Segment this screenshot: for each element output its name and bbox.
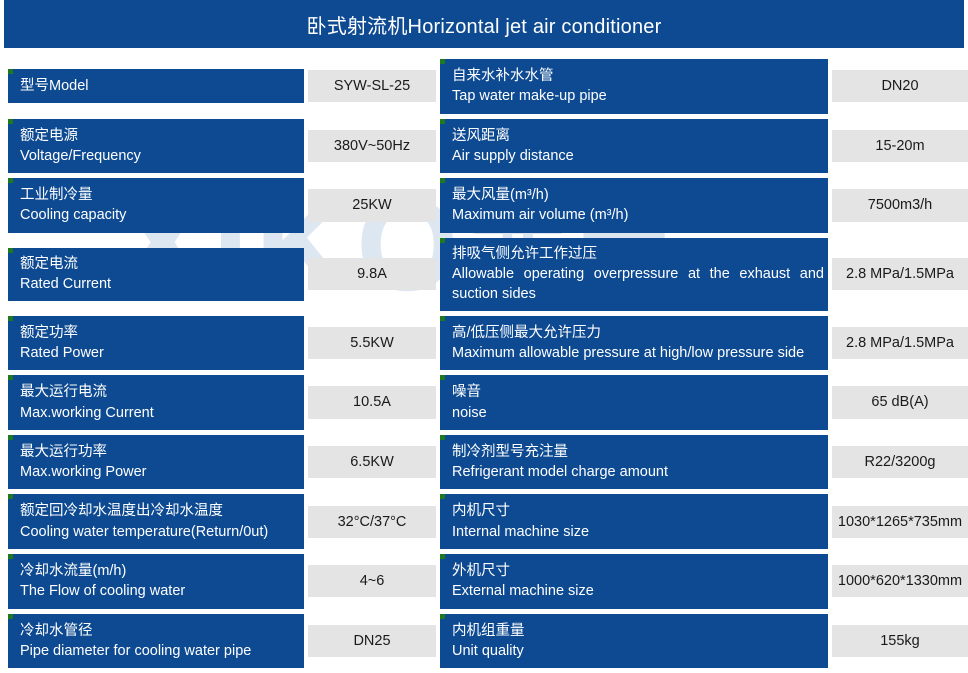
spec-label-right: 制冷剂型号充注量Refrigerant model charge amount: [440, 435, 828, 490]
spec-label-right-cn: 内机组重量: [452, 621, 824, 641]
spec-label-left-en: Rated Current: [20, 274, 300, 294]
spec-label-cell-left: 额定电流Rated Current: [8, 238, 304, 311]
spec-label-cell-right: 外机尺寸External machine size: [440, 554, 828, 609]
spec-label-cell-right: 自来水补水水管Tap water make-up pipe: [440, 59, 828, 114]
spec-value-right: R22/3200g: [832, 446, 968, 478]
spec-label-right-en: Maximum allowable pressure at high/low p…: [452, 343, 824, 363]
spec-label-cell-left: 最大运行功率Max.working Power: [8, 435, 304, 490]
spec-label-cell-right: 排吸气侧允许工作过压 Allowable operating overpress…: [440, 238, 828, 311]
spec-label-left-cn: 工业制冷量: [20, 185, 300, 205]
spec-label-left: 冷却水流量(m/h)The Flow of cooling water: [8, 554, 304, 609]
spec-value-cell-left: 32°C/37°C: [308, 494, 436, 549]
spec-label-right: 高/低压侧最大允许压力Maximum allowable pressure at…: [440, 316, 828, 371]
spec-value-cell-right: 155kg: [832, 614, 968, 669]
table-row: 型号ModelSYW-SL-25自来水补水水管Tap water make-up…: [8, 59, 968, 114]
spec-label-left-cn: 最大运行电流: [20, 382, 300, 402]
spec-value-left: 5.5KW: [308, 327, 436, 359]
spec-value-cell-left: 6.5KW: [308, 435, 436, 490]
spec-value-right: 1030*1265*735mm: [832, 506, 968, 538]
spec-value-cell-left: SYW-SL-25: [308, 59, 436, 114]
spec-value-left: 380V~50Hz: [308, 130, 436, 162]
spec-value-left: 32°C/37°C: [308, 506, 436, 538]
spec-label-left: 冷却水管径Pipe diameter for cooling water pip…: [8, 614, 304, 669]
spec-label-left: 最大运行电流Max.working Current: [8, 375, 304, 430]
spec-value-cell-left: 4~6: [308, 554, 436, 609]
spec-value-right: 15-20m: [832, 130, 968, 162]
spec-label-cell-left: 额定电源Voltage/Frequency: [8, 119, 304, 174]
spec-label-right: 噪音noise: [440, 375, 828, 430]
spec-label-left: 工业制冷量Cooling capacity: [8, 178, 304, 233]
spec-value-left: 9.8A: [308, 258, 436, 290]
spec-label-right-en: Tap water make-up pipe: [452, 86, 824, 106]
spec-value-left: 10.5A: [308, 386, 436, 418]
spec-value-cell-right: 15-20m: [832, 119, 968, 174]
spec-label-left-cn: 冷却水流量(m/h): [20, 561, 300, 581]
spec-label-right-en: Internal machine size: [452, 522, 824, 542]
spec-value-left: 25KW: [308, 189, 436, 221]
spec-label-cell-left: 冷却水流量(m/h)The Flow of cooling water: [8, 554, 304, 609]
spec-label-cell-left: 工业制冷量Cooling capacity: [8, 178, 304, 233]
spec-label-left-cn: 型号Model: [20, 76, 300, 96]
spec-label-left-en: Voltage/Frequency: [20, 146, 300, 166]
spec-label-right-en: External machine size: [452, 581, 824, 601]
spec-value-cell-right: R22/3200g: [832, 435, 968, 490]
spec-label-left-en: Cooling water temperature(Return/0ut): [20, 522, 300, 542]
spec-value-cell-right: 1030*1265*735mm: [832, 494, 968, 549]
spec-value-right: DN20: [832, 70, 968, 102]
table-row: 额定回冷却水温度出冷却水温度Cooling water temperature(…: [8, 494, 968, 549]
spec-label-cell-left: 型号Model: [8, 59, 304, 114]
spec-value-cell-right: 2.8 MPa/1.5MPa: [832, 238, 968, 311]
spec-label-right-en: Refrigerant model charge amount: [452, 462, 824, 482]
table-row: 冷却水流量(m/h)The Flow of cooling water4~6外机…: [8, 554, 968, 609]
spec-value-cell-right: 65 dB(A): [832, 375, 968, 430]
spec-label-cell-right: 噪音noise: [440, 375, 828, 430]
spec-value-right: 1000*620*1330mm: [832, 565, 968, 597]
spec-value-cell-right: 7500m3/h: [832, 178, 968, 233]
spec-value-cell-right: 1000*620*1330mm: [832, 554, 968, 609]
spec-label-left-cn: 额定功率: [20, 323, 300, 343]
spec-label-left-en: Pipe diameter for cooling water pipe: [20, 641, 300, 661]
table-row: 额定电源Voltage/Frequency380V~50Hz送风距离Air su…: [8, 119, 968, 174]
spec-value-left: 6.5KW: [308, 446, 436, 478]
spec-label-right: 内机尺寸Internal machine size: [440, 494, 828, 549]
spec-label-left-cn: 额定电流: [20, 254, 300, 274]
spec-label-cell-right: 内机尺寸Internal machine size: [440, 494, 828, 549]
spec-label-cell-left: 额定功率Rated Power: [8, 316, 304, 371]
spec-value-cell-left: 10.5A: [308, 375, 436, 430]
table-row: 额定电流Rated Current9.8A排吸气侧允许工作过压 Allowabl…: [8, 238, 968, 311]
spec-label-right: 送风距离Air supply distance: [440, 119, 828, 174]
table-row: 工业制冷量Cooling capacity25KW最大风量(m³/h)Maxim…: [8, 178, 968, 233]
spec-label-right: 排吸气侧允许工作过压 Allowable operating overpress…: [440, 238, 828, 311]
spec-value-right: 2.8 MPa/1.5MPa: [832, 327, 968, 359]
spec-label-left: 额定回冷却水温度出冷却水温度Cooling water temperature(…: [8, 494, 304, 549]
spec-label-cell-left: 最大运行电流Max.working Current: [8, 375, 304, 430]
spec-label-right-cn: 送风距离: [452, 126, 824, 146]
spec-label-right-cn: 排吸气侧允许工作过压: [452, 244, 824, 264]
spec-value-cell-left: 380V~50Hz: [308, 119, 436, 174]
spec-label-left-en: Max.working Current: [20, 403, 300, 423]
spec-label-left: 额定电流Rated Current: [8, 248, 304, 301]
table-row: 额定功率Rated Power5.5KW高/低压侧最大允许压力Maximum a…: [8, 316, 968, 371]
spec-value-cell-left: 9.8A: [308, 238, 436, 311]
table-row: 最大运行电流Max.working Current10.5A噪音noise65 …: [8, 375, 968, 430]
spec-label-cell-left: 冷却水管径Pipe diameter for cooling water pip…: [8, 614, 304, 669]
specification-table: 型号ModelSYW-SL-25自来水补水水管Tap water make-up…: [4, 54, 968, 673]
spec-label-cell-right: 制冷剂型号充注量Refrigerant model charge amount: [440, 435, 828, 490]
spec-label-left-cn: 额定电源: [20, 126, 300, 146]
spec-value-right: 2.8 MPa/1.5MPa: [832, 258, 968, 290]
page-title: 卧式射流机Horizontal jet air conditioner: [307, 10, 662, 39]
spec-value-cell-left: DN25: [308, 614, 436, 669]
spec-value-left: SYW-SL-25: [308, 70, 436, 102]
spec-label-left: 最大运行功率Max.working Power: [8, 435, 304, 490]
spec-label-right-en: Air supply distance: [452, 146, 824, 166]
spec-label-right-en: Maximum air volume (m³/h): [452, 205, 824, 225]
spec-label-cell-right: 送风距离Air supply distance: [440, 119, 828, 174]
page-title-bar: 卧式射流机Horizontal jet air conditioner: [4, 0, 964, 48]
spec-label-left-cn: 最大运行功率: [20, 442, 300, 462]
spec-label-right-cn: 最大风量(m³/h): [452, 185, 824, 205]
spec-label-right-en: Allowable operating overpressure at the …: [452, 264, 824, 305]
spec-value-left: 4~6: [308, 565, 436, 597]
spec-label-left-en: Cooling capacity: [20, 205, 300, 225]
spec-label-cell-left: 额定回冷却水温度出冷却水温度Cooling water temperature(…: [8, 494, 304, 549]
table-row: 最大运行功率Max.working Power6.5KW制冷剂型号充注量Refr…: [8, 435, 968, 490]
spec-label-cell-right: 高/低压侧最大允许压力Maximum allowable pressure at…: [440, 316, 828, 371]
spec-label-cell-right: 最大风量(m³/h)Maximum air volume (m³/h): [440, 178, 828, 233]
spec-label-right-cn: 制冷剂型号充注量: [452, 442, 824, 462]
spec-value-cell-right: DN20: [832, 59, 968, 114]
spec-label-left: 额定功率Rated Power: [8, 316, 304, 371]
spec-label-right: 外机尺寸External machine size: [440, 554, 828, 609]
spec-label-left-en: Rated Power: [20, 343, 300, 363]
spec-label-left: 额定电源Voltage/Frequency: [8, 119, 304, 174]
spec-label-right-cn: 内机尺寸: [452, 501, 824, 521]
spec-label-cell-right: 内机组重量Unit quality: [440, 614, 828, 669]
spec-value-cell-left: 5.5KW: [308, 316, 436, 371]
spec-value-right: 65 dB(A): [832, 386, 968, 418]
spec-value-right: 155kg: [832, 625, 968, 657]
spec-label-left-cn: 冷却水管径: [20, 621, 300, 641]
spec-label-right: 内机组重量Unit quality: [440, 614, 828, 669]
spec-value-right: 7500m3/h: [832, 189, 968, 221]
spec-label-right-cn: 噪音: [452, 382, 824, 402]
spec-label-right-en: Unit quality: [452, 641, 824, 661]
table-row: 冷却水管径Pipe diameter for cooling water pip…: [8, 614, 968, 669]
spec-value-left: DN25: [308, 625, 436, 657]
spec-label-right-cn: 外机尺寸: [452, 561, 824, 581]
spec-value-cell-left: 25KW: [308, 178, 436, 233]
spec-label-left-cn: 额定回冷却水温度出冷却水温度: [20, 501, 300, 521]
spec-label-right-cn: 自来水补水水管: [452, 66, 824, 86]
spec-value-cell-right: 2.8 MPa/1.5MPa: [832, 316, 968, 371]
spec-label-right-cn: 高/低压侧最大允许压力: [452, 323, 824, 343]
spec-label-left-en: The Flow of cooling water: [20, 581, 300, 601]
spec-label-left-en: Max.working Power: [20, 462, 300, 482]
spec-label-left: 型号Model: [8, 69, 304, 103]
spec-label-right: 自来水补水水管Tap water make-up pipe: [440, 59, 828, 114]
spec-label-right: 最大风量(m³/h)Maximum air volume (m³/h): [440, 178, 828, 233]
spec-label-right-en: noise: [452, 403, 824, 423]
